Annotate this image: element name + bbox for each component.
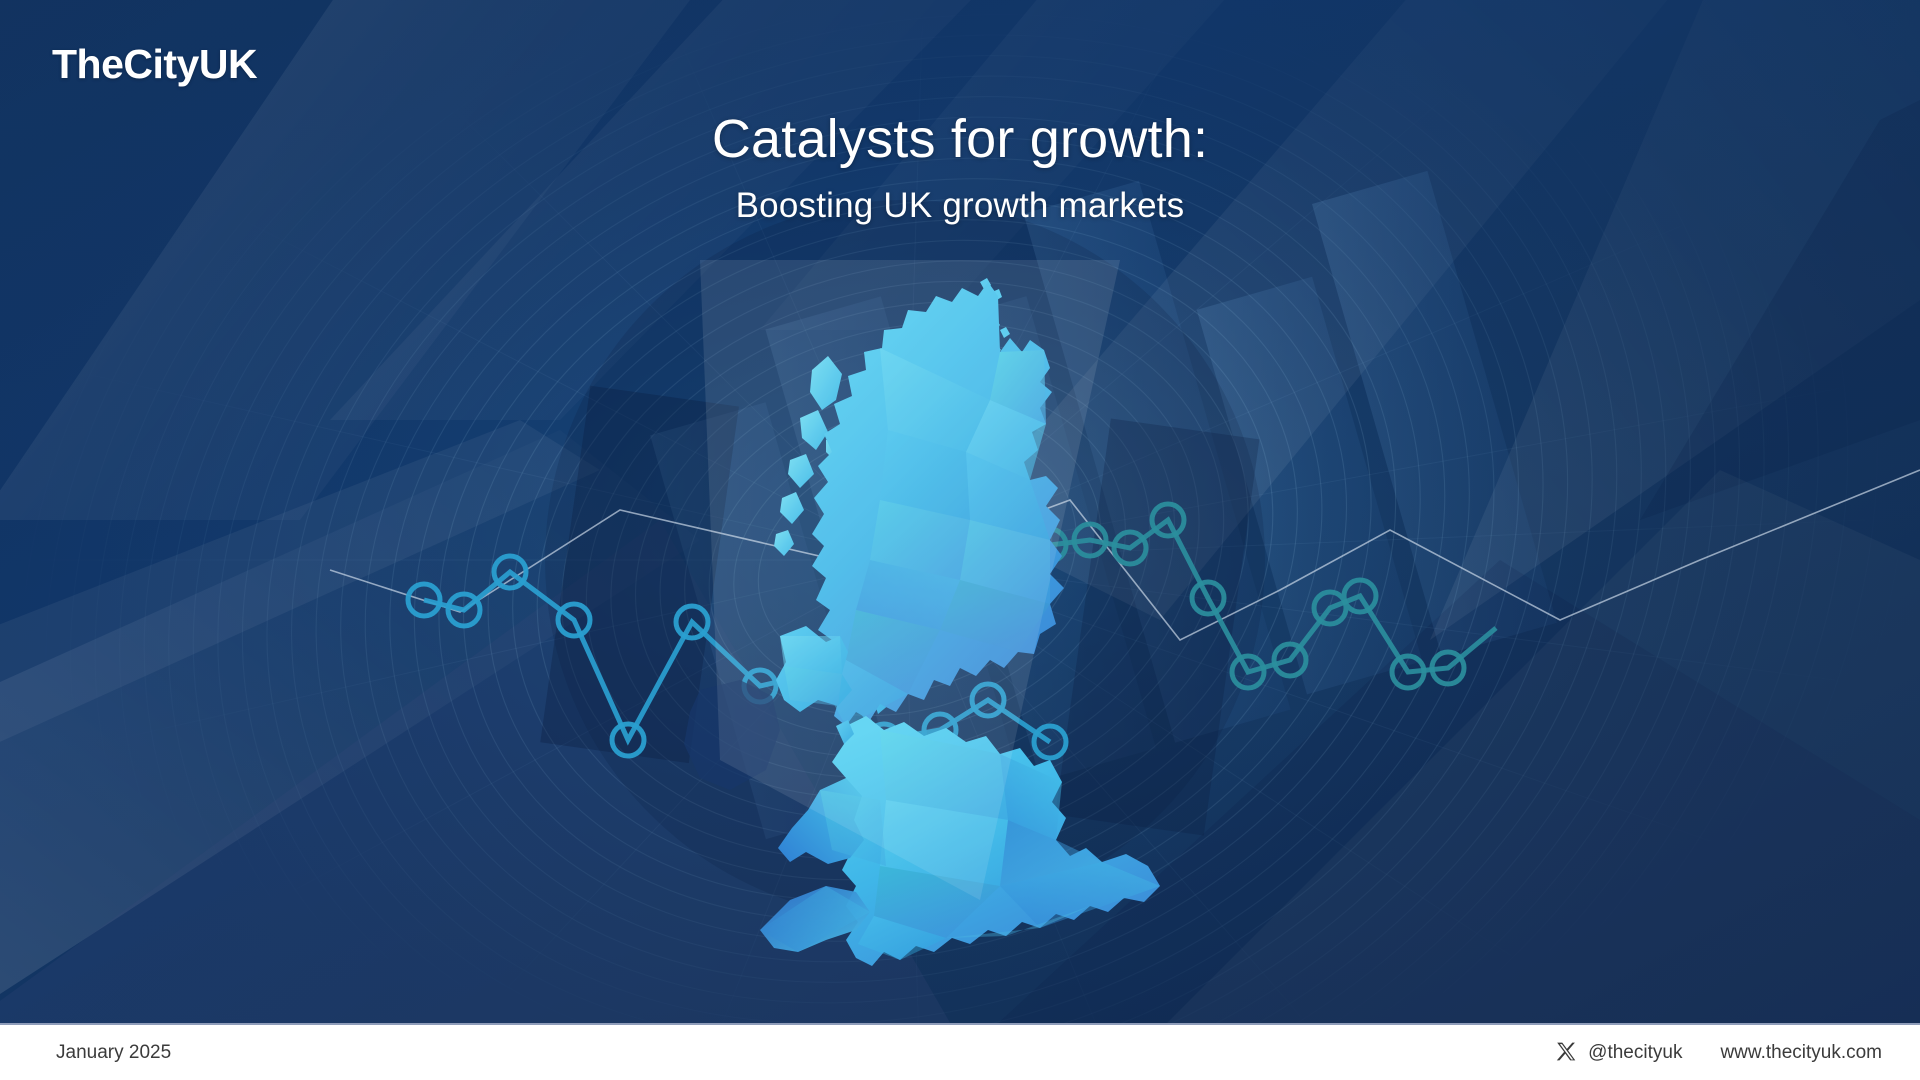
map-outer-hebrides [774,356,854,556]
x-twitter-icon [1555,1041,1579,1065]
social-link-x[interactable]: @thecityuk [1555,1041,1682,1065]
center-circle-shadow [545,200,1265,920]
footer-right-group: @thecityuk www.thecityuk.com [1555,1041,1882,1065]
page-title: Catalysts for growth: [0,110,1920,168]
map-light-overlay [700,260,1120,900]
map-ireland [684,680,780,790]
map-northern-isles [958,278,1010,381]
map-inner-hebrides [836,486,890,714]
map-scotland-facets [826,348,1050,726]
map-england-wales [832,716,1160,966]
page-subtitle: Boosting UK growth markets [0,186,1920,226]
thin-white-trend-line [330,470,1920,640]
footer-date: January 2025 [56,1042,171,1064]
footer-bar: January 2025 @thecityuk www.thecityuk.co… [0,1023,1920,1080]
map-england-facets [760,730,1160,960]
line-chart-overlay-right [1050,520,1496,672]
united-kingdom-low-poly-map [684,278,1160,966]
map-isle-of-man [836,720,854,744]
title-slide: TheCityUK Catalysts for growth: Boosting… [0,0,1920,1080]
map-south-west [760,886,870,952]
map-scotland [812,282,1064,726]
title-block: Catalysts for growth: Boosting UK growth… [0,110,1920,226]
thecityuk-logo[interactable]: TheCityUK [52,44,257,85]
map-wales [778,778,864,864]
line-chart-overlay-left [424,572,1050,742]
social-handle-text: @thecityuk [1588,1042,1682,1064]
map-northern-ireland [776,626,852,712]
website-link[interactable]: www.thecityuk.com [1720,1042,1882,1064]
line-chart-overlay-right-markers [1034,504,1464,688]
line-chart-overlay-left-markers [408,556,1066,758]
